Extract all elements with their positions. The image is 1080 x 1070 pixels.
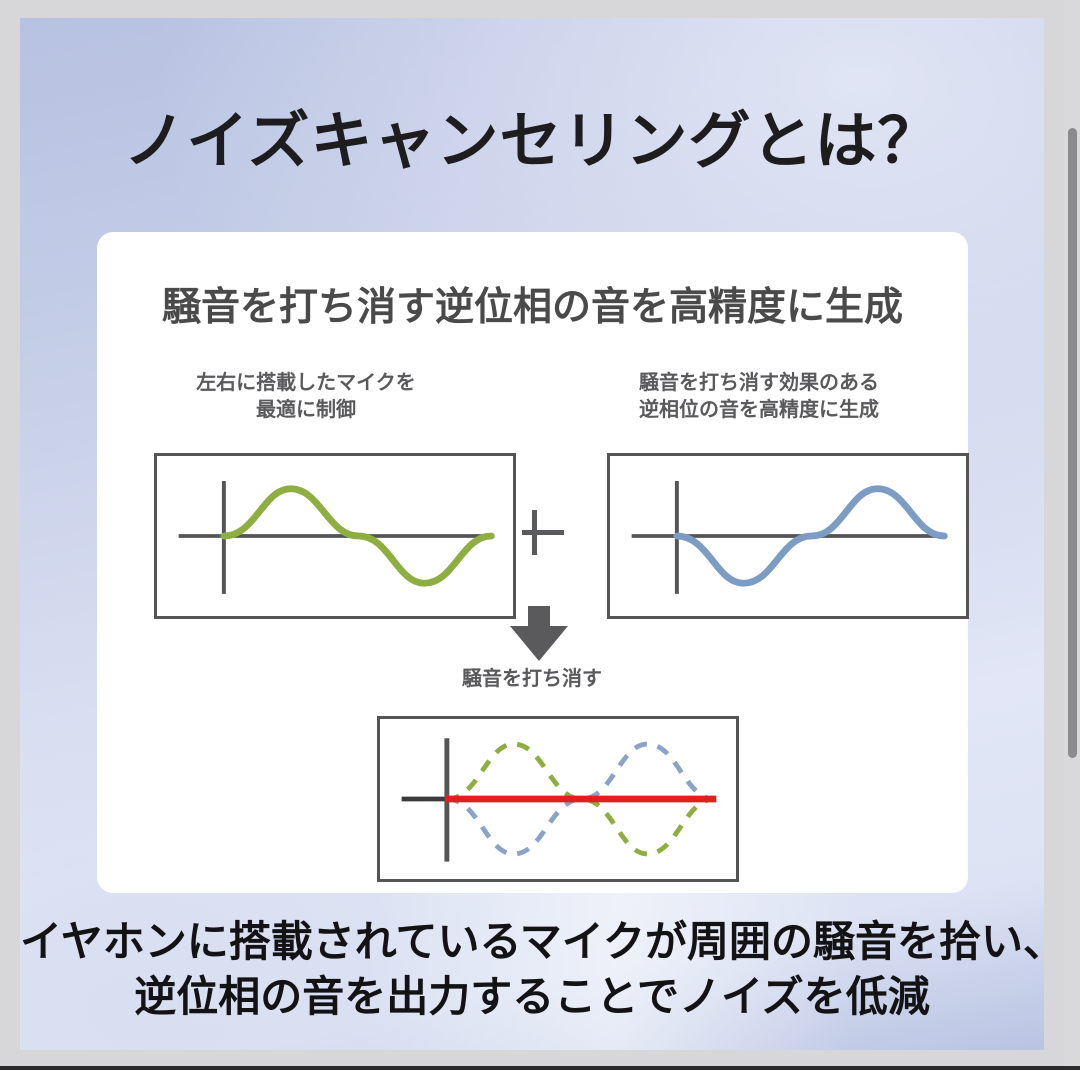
caption-antiphase-generation: 騒音を打ち消す効果のある 逆相位の音を高精度に生成 — [587, 369, 931, 423]
scrollbar-thumb[interactable] — [1068, 128, 1077, 758]
page-viewport: ノイズキャンセリングとは？ 騒音を打ち消す逆位相の音を高精度に生成 左右に搭載し… — [0, 0, 1080, 1070]
plus-vertical-bar — [532, 510, 537, 555]
caption-left-line1: 左右に搭載したマイクを — [196, 370, 416, 394]
caption-left-line2: 最適に制御 — [256, 397, 356, 421]
caption-cancellation-result: 騒音を打ち消す — [387, 665, 677, 692]
card-title: 騒音を打ち消す逆位相の音を高精度に生成 — [97, 276, 968, 332]
chart-cancellation-result — [377, 716, 739, 882]
plus-horizontal-bar — [522, 530, 564, 535]
noise-wave-plot — [157, 456, 513, 616]
cancellation-result-plot — [380, 719, 736, 879]
chart-noise-wave — [154, 453, 516, 619]
footer-description: イヤホンに搭載されているマイクが周囲の騒音を拾い、 逆位相の音を出力することでノ… — [20, 914, 1044, 1025]
bottom-divider — [0, 1066, 1080, 1070]
caption-microphone-control: 左右に搭載したマイクを 最適に制御 — [134, 369, 478, 423]
chart-antiphase-wave — [607, 453, 969, 619]
caption-sum-line1: 騒音を打ち消す — [462, 666, 602, 690]
caption-right-line1: 騒音を打ち消す効果のある — [639, 370, 879, 394]
explanation-card: 騒音を打ち消す逆位相の音を高精度に生成 左右に搭載したマイクを 最適に制御 騒音… — [97, 232, 968, 893]
noise-cancelling-infographic: ノイズキャンセリングとは？ 騒音を打ち消す逆位相の音を高精度に生成 左右に搭載し… — [20, 18, 1044, 1050]
vertical-scrollbar[interactable] — [1064, 0, 1080, 1066]
footer-line-1: イヤホンに搭載されているマイクが周囲の騒音を拾い、 — [20, 914, 1044, 969]
footer-line-2: 逆位相の音を出力することでノイズを低減 — [20, 969, 1044, 1024]
down-arrow-icon — [508, 606, 570, 662]
caption-right-line2: 逆相位の音を高精度に生成 — [639, 397, 879, 421]
page-title: ノイズキャンセリングとは？ — [20, 90, 1044, 180]
antiphase-wave-plot — [610, 456, 966, 616]
plus-operator — [514, 504, 572, 562]
